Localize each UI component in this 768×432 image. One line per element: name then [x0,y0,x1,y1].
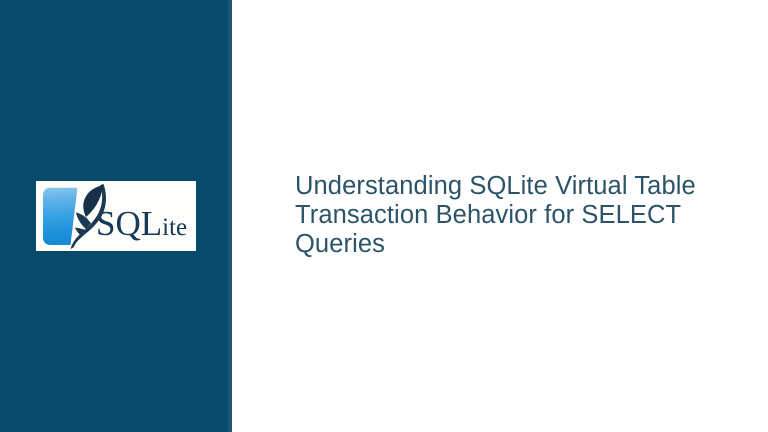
sqlite-logo: SQLite [36,181,196,251]
sqlite-wordmark: SQLite [96,201,196,247]
title-slide: SQLite Understanding SQLite Virtual Tabl… [0,0,768,432]
page-title: Understanding SQLite Virtual Table Trans… [295,172,725,259]
sqlite-wordmark-caps: SQL [96,204,162,243]
sqlite-wordmark-lowercase: ite [162,214,187,241]
sidebar-edge-accent [228,0,232,432]
sqlite-logo-artwork: SQLite [36,181,196,251]
